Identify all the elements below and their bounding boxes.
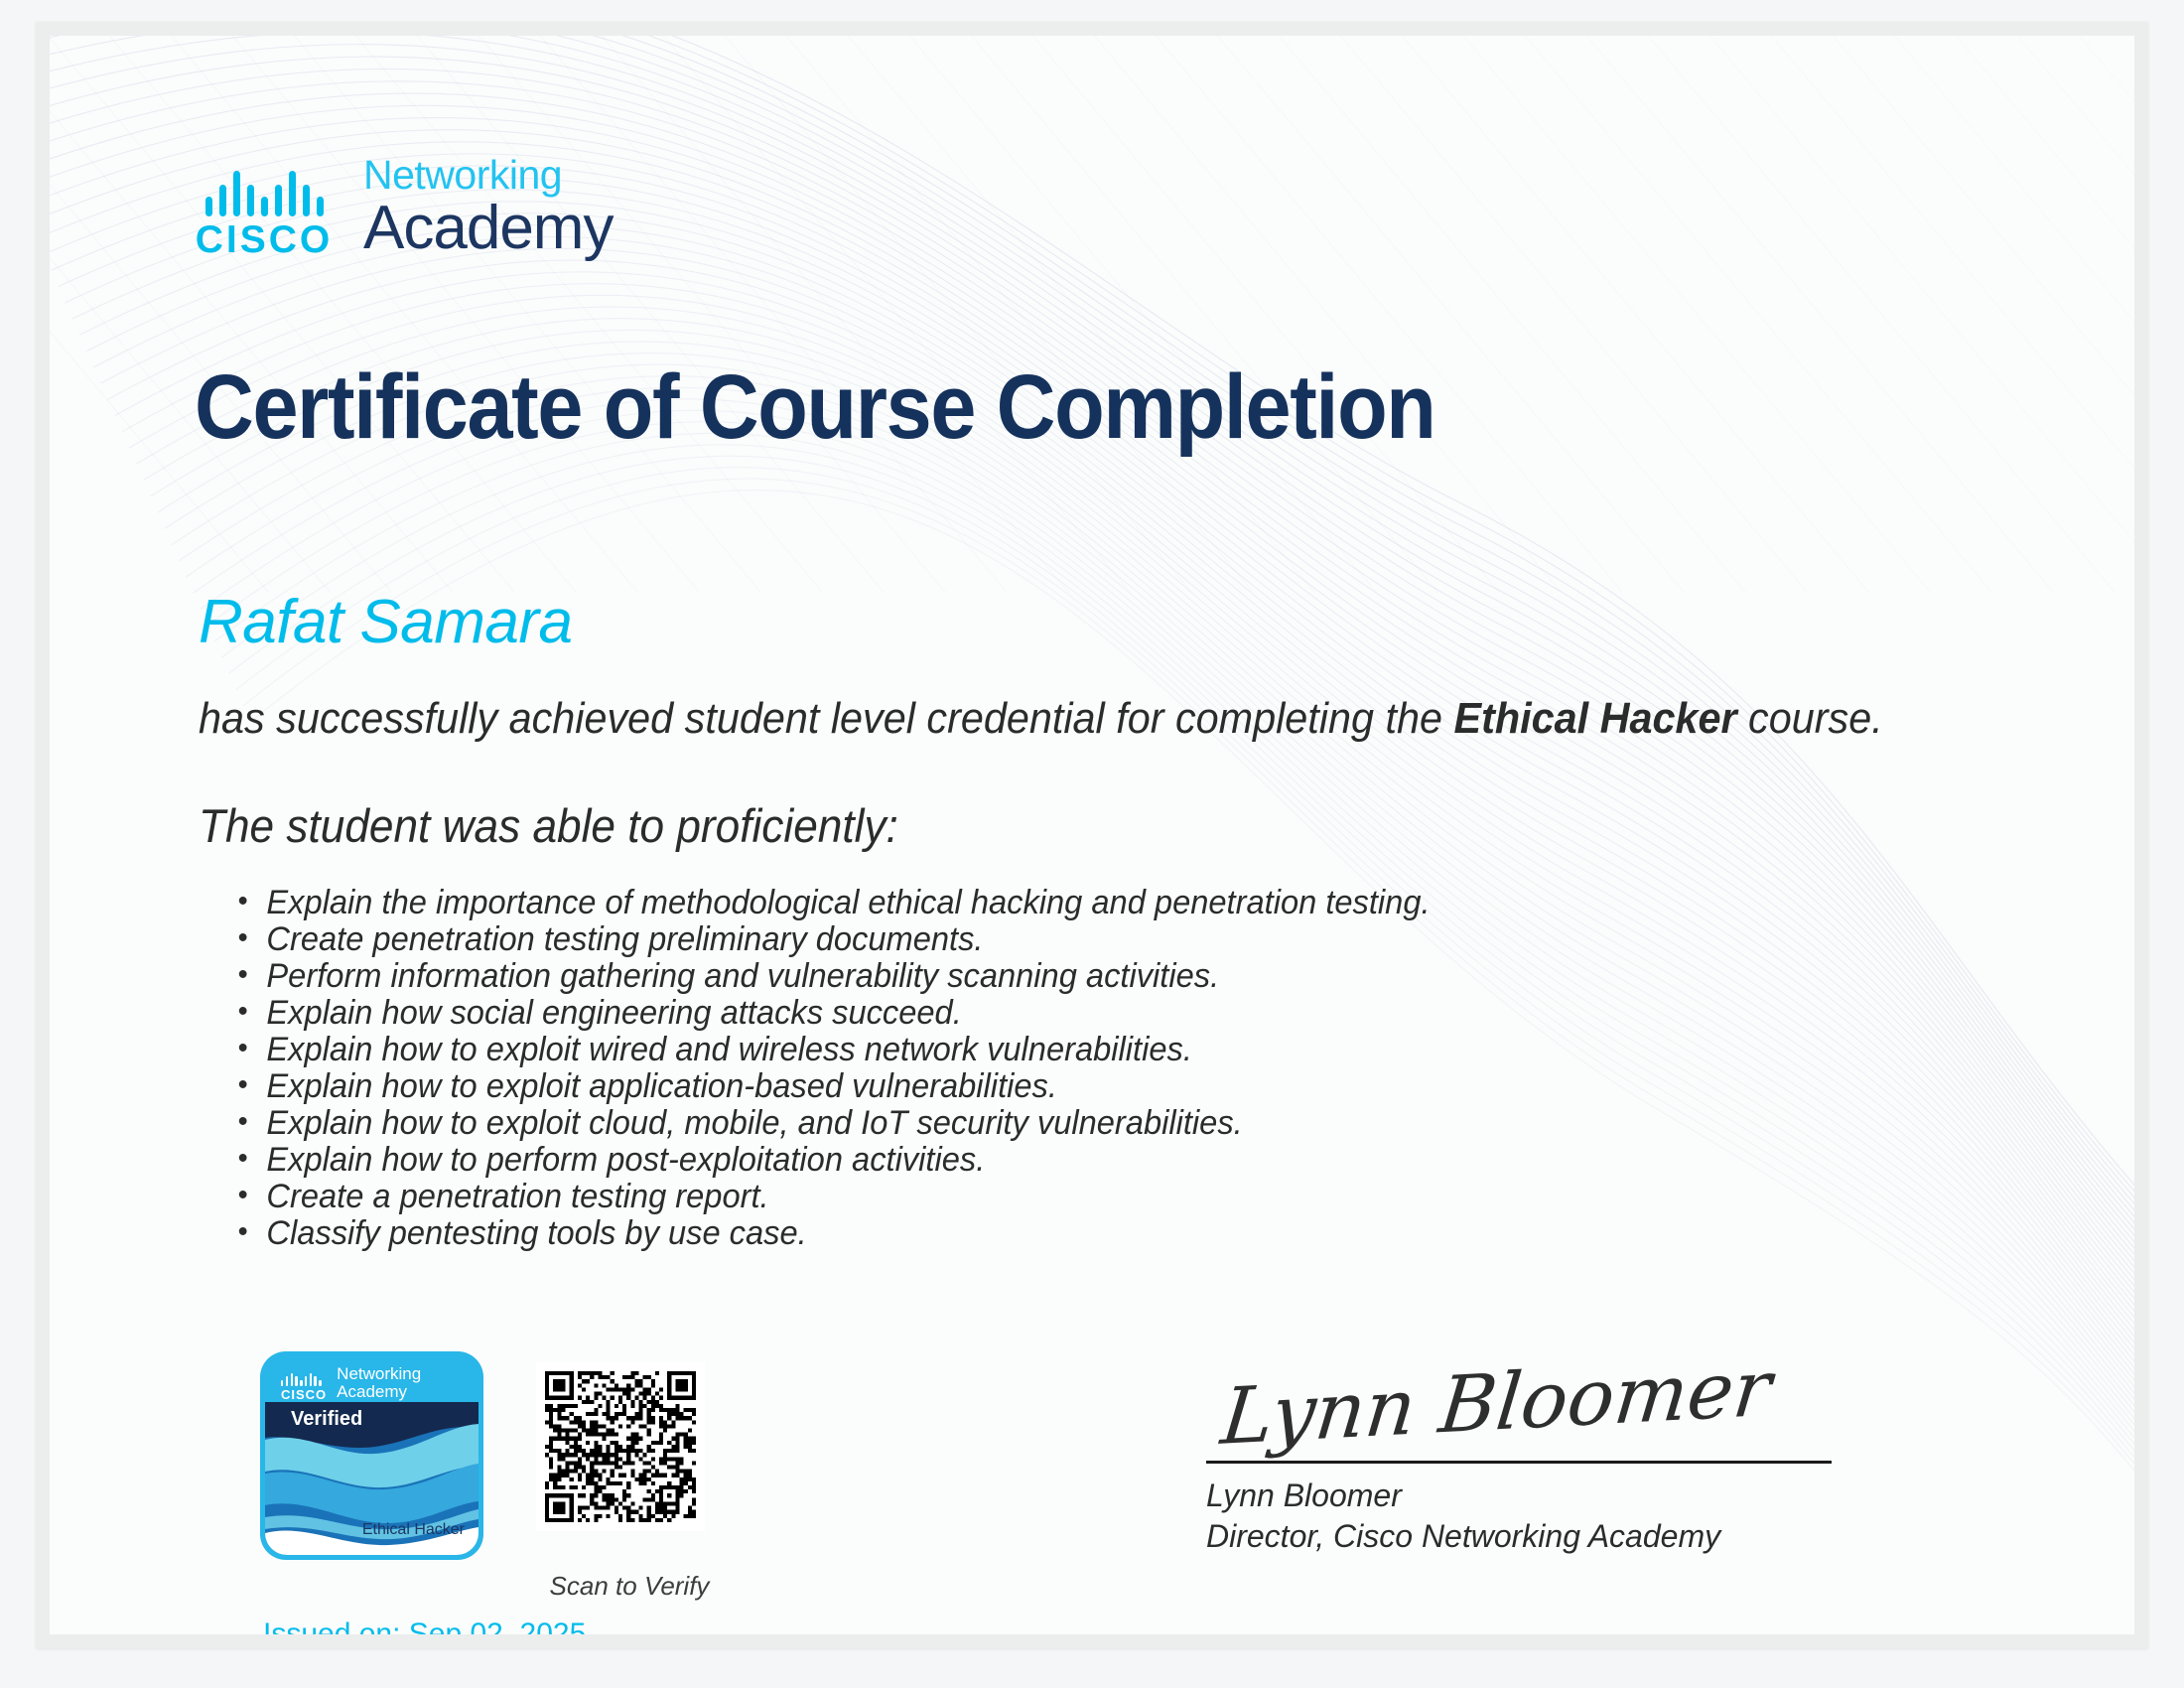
- qr-code-image[interactable]: [545, 1371, 696, 1522]
- page-title: Certificate of Course Completion: [195, 355, 1435, 460]
- issued-on-date: Issued on: Sep 02, 2025: [263, 1618, 586, 1634]
- skill-item: Explain how social engineering attacks s…: [228, 995, 1431, 1032]
- skills-list: Explain the importance of methodological…: [228, 885, 1480, 1252]
- skill-item: Perform information gathering and vulner…: [228, 958, 1431, 995]
- signature-block: Lynn Bloomer Lynn Bloomer Director, Cisc…: [1206, 1381, 1842, 1555]
- networking-academy-wordmark: Networking Academy: [363, 155, 613, 259]
- scan-to-verify-label: Scan to Verify: [536, 1571, 723, 1602]
- academy-text: Academy: [363, 198, 613, 259]
- certificate-frame: CISCO Networking Academy Certificate of …: [36, 22, 2148, 1648]
- skill-item: Explain how to perform post-exploitation…: [228, 1142, 1431, 1179]
- badge-artwork: CISCO Networking Academy Verified Ethica…: [265, 1356, 478, 1555]
- badge-cisco-wordmark: CISCO: [281, 1388, 327, 1401]
- cisco-networking-academy-logo: CISCO Networking Academy: [195, 155, 613, 259]
- achievement-prefix: has successfully achieved student level …: [199, 694, 1453, 743]
- skill-item: Explain how to exploit wired and wireles…: [228, 1032, 1431, 1068]
- verified-badge: CISCO Networking Academy Verified Ethica…: [260, 1351, 483, 1560]
- networking-text: Networking: [363, 155, 613, 196]
- signer-title: Director, Cisco Networking Academy: [1206, 1518, 1842, 1555]
- badge-academy-text: Academy: [337, 1383, 421, 1401]
- badge-cisco-logo-icon: CISCO Networking Academy: [281, 1365, 421, 1401]
- recipient-name: Rafat Samara: [199, 587, 573, 657]
- badge-status-label: Verified: [265, 1408, 362, 1431]
- skill-item: Create penetration testing preliminary d…: [228, 921, 1431, 958]
- achievement-statement: has successfully achieved student level …: [199, 694, 1883, 744]
- signature-rule: [1206, 1461, 1832, 1464]
- badge-course-label: Ethical Hacker: [362, 1521, 465, 1539]
- cisco-wordmark: CISCO: [195, 220, 334, 259]
- cisco-bars-icon: [195, 171, 334, 216]
- certificate-page: CISCO Networking Academy Certificate of …: [50, 36, 2134, 1634]
- qr-code[interactable]: [536, 1362, 705, 1531]
- skill-item: Explain the importance of methodological…: [228, 885, 1431, 921]
- qr-verification-block: Scan to Verify: [536, 1362, 723, 1602]
- course-name: Ethical Hacker: [1453, 694, 1736, 743]
- badge-cisco-bars-icon: [281, 1373, 327, 1386]
- cisco-logo-icon: CISCO: [195, 171, 334, 259]
- skill-item: Create a penetration testing report.: [228, 1179, 1431, 1215]
- achievement-suffix: course.: [1737, 694, 1883, 743]
- signature-handwriting: Lynn Bloomer: [1218, 1348, 1848, 1455]
- proficiency-heading: The student was able to proficiently:: [199, 798, 898, 853]
- signer-name: Lynn Bloomer: [1206, 1477, 1842, 1514]
- badge-networking-text: Networking: [337, 1365, 421, 1383]
- skill-item: Explain how to exploit application-based…: [228, 1068, 1431, 1105]
- badge-networking-academy-text: Networking Academy: [337, 1365, 421, 1401]
- skill-item: Classify pentesting tools by use case.: [228, 1215, 1431, 1252]
- skill-item: Explain how to exploit cloud, mobile, an…: [228, 1105, 1431, 1142]
